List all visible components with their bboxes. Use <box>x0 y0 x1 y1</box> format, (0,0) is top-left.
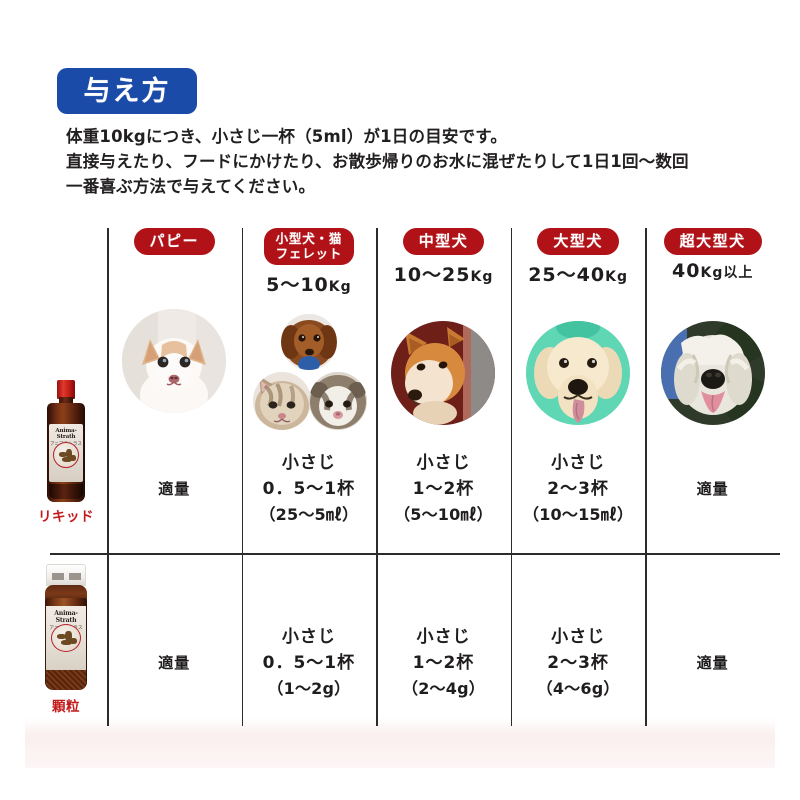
extra-large-dog-sheepdog-photo <box>645 312 780 434</box>
size-column-medium: 中型犬 10～25Kg <box>376 228 511 728</box>
weight-unit: Kg <box>470 269 493 285</box>
weight-range-xlarge: 40Kg以上 <box>672 260 753 282</box>
dose-text: 適量 <box>158 650 190 676</box>
size-pill-medium: 中型犬 <box>403 228 485 255</box>
size-pill-line-2: フェレット <box>276 246 343 261</box>
size-column-xlarge: 超大型犬 40Kg以上 <box>645 228 780 728</box>
dose-line-3: （2～4g） <box>376 676 511 702</box>
section-heading-label: 与え方 <box>84 78 171 105</box>
dose-cell-medium-granule: 小さじ 1～2杯 （2～4g） <box>376 624 511 702</box>
weight-value: 10～25 <box>394 264 471 286</box>
column-header-small: 小型犬・猫 フェレット 5～10Kg <box>242 228 377 297</box>
column-header-puppy: パピー <box>107 228 242 255</box>
column-header-large: 大型犬 25～40Kg <box>511 228 646 287</box>
product-cell-granule: Anima-Strath アニマストラス 顆粒 <box>25 564 107 715</box>
intro-line-1: 体重10kgにつき、小さじ一杯（5ml）が1日の目安です。 <box>66 124 766 149</box>
column-header-xlarge: 超大型犬 40Kg以上 <box>645 228 780 282</box>
dose-line-3: （5～10㎖） <box>376 502 511 528</box>
size-pill-large: 大型犬 <box>537 228 619 255</box>
dose-cell-small-liquid: 小さじ 0．5～1杯 （25～5㎖） <box>242 450 377 528</box>
dose-line-3: （25～5㎖） <box>242 502 377 528</box>
dose-text: 適量 <box>697 476 729 502</box>
size-pill-puppy: パピー <box>134 228 216 255</box>
dose-line-2: 2～3杯 <box>511 650 646 676</box>
feeding-guide-page: 与え方 体重10kgにつき、小さじ一杯（5ml）が1日の目安です。 直接与えたり… <box>0 0 800 800</box>
weight-value: 5～10 <box>266 274 329 296</box>
weight-unit: Kg <box>329 279 352 295</box>
dachshund-photo <box>281 314 337 370</box>
intro-line-3: 一番喜ぶ方法で与えてください。 <box>66 174 766 199</box>
dose-text: 適量 <box>697 650 729 676</box>
cat-photo <box>253 372 311 430</box>
product-cell-liquid: Anima-Strath アニマストラス リキッド <box>25 380 107 525</box>
dose-cell-medium-liquid: 小さじ 1～2杯 （5～10㎖） <box>376 450 511 528</box>
size-pill-small: 小型犬・猫 フェレット <box>264 228 355 265</box>
dose-cell-xlarge-granule: 適量 <box>645 624 780 702</box>
size-column-large: 大型犬 25～40Kg <box>511 228 646 728</box>
dose-line-3: （4～6g） <box>511 676 646 702</box>
dose-cell-puppy-liquid: 適量 <box>107 450 242 528</box>
dose-cell-large-liquid: 小さじ 2～3杯 （10～15㎖） <box>511 450 646 528</box>
dose-cell-xlarge-liquid: 適量 <box>645 450 780 528</box>
dose-line-2: 1～2杯 <box>376 650 511 676</box>
weight-unit: Kg以上 <box>700 265 753 281</box>
dose-line-1: 小さじ <box>242 624 377 650</box>
dose-line-1: 小さじ <box>376 624 511 650</box>
size-columns-grid: パピー <box>107 228 780 728</box>
weight-range-small: 5～10Kg <box>266 270 352 297</box>
product-column: Anima-Strath アニマストラス リキッド <box>25 228 107 728</box>
size-pill-line-1: 小型犬・猫 <box>276 231 343 246</box>
dose-line-1: 小さじ <box>242 450 377 476</box>
large-dog-retriever-photo <box>511 312 646 434</box>
small-dog-cat-ferret-photo <box>242 312 377 434</box>
dose-line-2: 0．5～1杯 <box>242 476 377 502</box>
product-label-granule: 顆粒 <box>52 695 80 715</box>
size-column-puppy: パピー <box>107 228 242 728</box>
weight-unit: Kg <box>605 269 628 285</box>
granule-jar-icon: Anima-Strath アニマストラス <box>42 564 90 692</box>
intro-line-2: 直接与えたり、フードにかけたり、お散歩帰りのお水に混ぜたりして1日1回～数回 <box>66 149 766 174</box>
weight-value: 25～40 <box>528 264 605 286</box>
dose-cell-puppy-granule: 適量 <box>107 624 242 702</box>
dose-cell-small-granule: 小さじ 0．5～1杯 （1～2g） <box>242 624 377 702</box>
dosage-table: Anima-Strath アニマストラス リキッド <box>25 228 780 728</box>
puppy-photo <box>107 300 242 422</box>
section-heading-badge: 与え方 <box>57 68 197 114</box>
size-pill-xlarge: 超大型犬 <box>664 228 762 255</box>
dose-text: 適量 <box>158 476 190 502</box>
dose-line-1: 小さじ <box>376 450 511 476</box>
dose-cell-large-granule: 小さじ 2～3杯 （4～6g） <box>511 624 646 702</box>
size-column-small: 小型犬・猫 フェレット 5～10Kg <box>242 228 377 728</box>
dose-line-3: （1～2g） <box>242 676 377 702</box>
dose-line-2: 1～2杯 <box>376 476 511 502</box>
dose-line-1: 小さじ <box>511 450 646 476</box>
dose-line-2: 2～3杯 <box>511 476 646 502</box>
liquid-bottle-icon: Anima-Strath アニマストラス <box>46 380 86 502</box>
intro-paragraph: 体重10kgにつき、小さじ一杯（5ml）が1日の目安です。 直接与えたり、フード… <box>66 124 766 199</box>
dose-line-1: 小さじ <box>511 624 646 650</box>
weight-value: 40 <box>672 260 700 282</box>
column-header-medium: 中型犬 10～25Kg <box>376 228 511 287</box>
dose-line-2: 0．5～1杯 <box>242 650 377 676</box>
dose-line-3: （10～15㎖） <box>511 502 646 528</box>
weight-range-medium: 10～25Kg <box>394 260 494 287</box>
medium-dog-shiba-photo <box>376 312 511 434</box>
ferret-photo <box>309 372 367 430</box>
weight-range-large: 25～40Kg <box>528 260 628 287</box>
product-label-liquid: リキッド <box>38 505 94 525</box>
